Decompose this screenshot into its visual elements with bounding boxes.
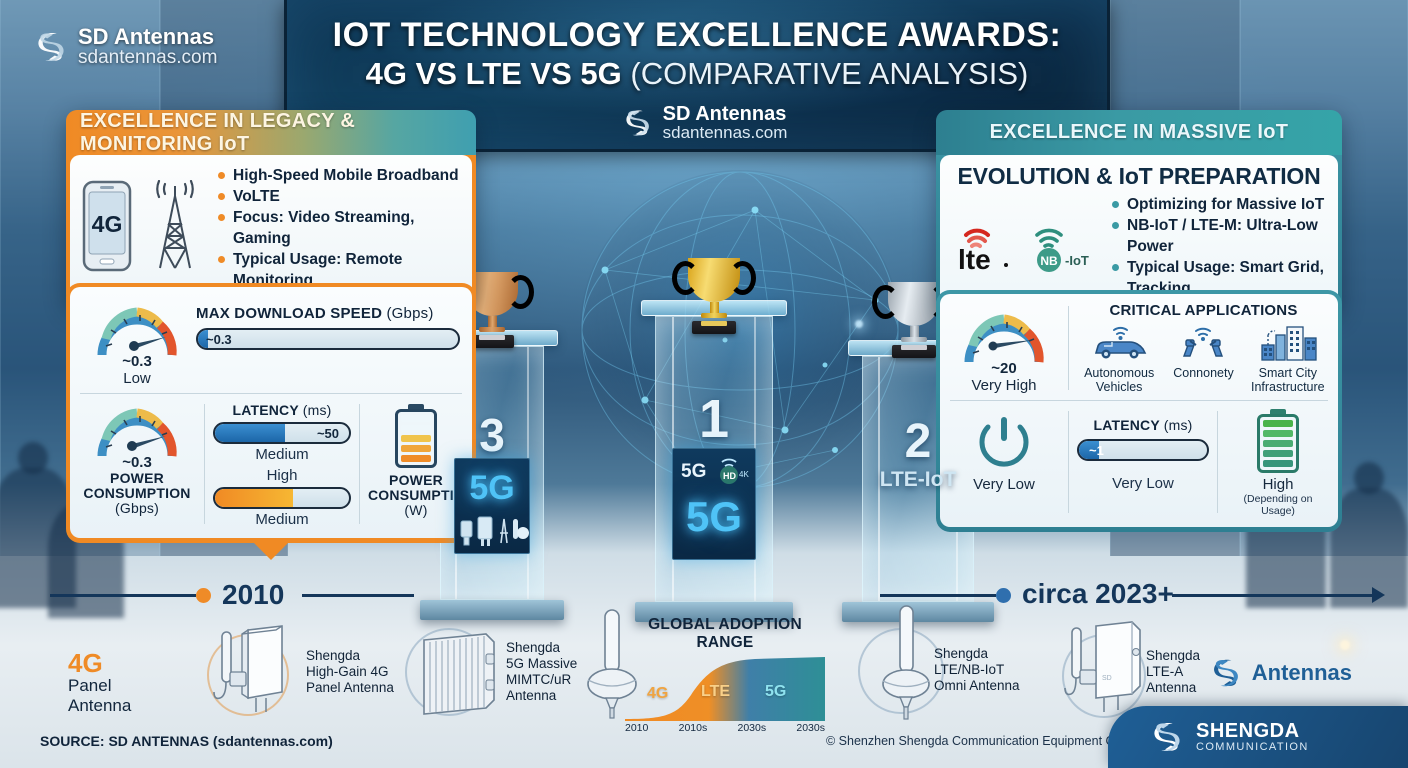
latency-caption: Very Low (1077, 475, 1209, 492)
podium-first-place: 1 5G HD 4K 5G (655, 300, 773, 622)
subtitle-bold: 4G VS LTE VS 5G (366, 56, 622, 91)
brand-name: Antennas (1252, 662, 1352, 684)
right-card-bullet-list: Optimizing for Massive IoT NB-IoT / LTE-… (1112, 194, 1328, 299)
app-caption: Connonety (1164, 366, 1242, 380)
gauge-dial (961, 306, 1047, 364)
timeline-line-right (880, 594, 996, 597)
svg-text:4K: 4K (739, 470, 749, 479)
right-card-massive-iot: EXCELLENCE IN MASSIVE IoT EVOLUTION & Io… (936, 110, 1342, 314)
timeline-line-left2 (302, 594, 414, 597)
latency-label: LATENCY (ms) (1077, 417, 1209, 433)
metric-label-unit: (Gbps) (386, 305, 433, 322)
podium-screen: 5G HD 4K 5G (672, 448, 756, 560)
timeline-arrow-icon (1372, 587, 1385, 603)
bar-value: ~0.3 (206, 332, 232, 347)
footer-brand-sub: COMMUNICATION (1196, 741, 1309, 753)
chart-label-4g: 4G (647, 685, 668, 703)
infographic-canvas: IOT TECHNOLOGY EXCELLENCE AWARDS: 4G VS … (0, 0, 1408, 768)
gauge-dial (94, 400, 180, 458)
right-latency: LATENCY (ms) ~1 Very Low (1077, 407, 1209, 492)
label-unit: (W) (368, 503, 464, 518)
list-item: NB-IoT / LTE-M: Ultra-Low Power (1112, 215, 1328, 257)
timeline-year-left: 2010 (222, 579, 284, 611)
app-caption: Smart City Infrastructure (1249, 366, 1327, 394)
latency-caption: Medium (213, 446, 351, 463)
autonomous-car-icon (1088, 323, 1150, 361)
timeline-year-right: circa 2023+ (1022, 578, 1174, 610)
app-autonomous-vehicles: Autonomous Vehicles (1080, 323, 1158, 394)
label-line2: CONSUMPTION (368, 488, 464, 503)
podium-rank: 3 (440, 408, 544, 462)
label-line1: POWER (78, 471, 196, 486)
lte-logo-icon: lte (950, 215, 1016, 278)
timeline-line-left (50, 594, 196, 597)
device-caption-2: Shengda5G MassiveMIMTC/uRAntenna (506, 640, 577, 704)
metric-label-unit: (ms) (303, 402, 332, 418)
brand-name: SD Antennas (78, 26, 217, 48)
trophy-silver (884, 282, 944, 358)
podium-rank: 2 (862, 414, 974, 469)
header-brand-logo: SD Antennas sdantennas.com (621, 104, 788, 142)
nb-iot-logo-icon: NB -IoT (1022, 215, 1106, 278)
left-card-legacy-iot: EXCELLENCE IN LEGACY & MONITORING IoT 4G (66, 110, 476, 308)
power-bar-caption-bottom: Medium (213, 511, 351, 528)
gauge-dial (94, 299, 180, 357)
5g-hd-badges-icon: 5G HD 4K (673, 453, 757, 487)
latency-label: LATENCY (ms) (213, 402, 351, 418)
podium-rank: 1 (655, 388, 773, 450)
page-subtitle: 4G VS LTE VS 5G (COMPARATIVE ANALYSIS) (287, 54, 1107, 91)
chart-plot-area: 4G LTE 5G (625, 655, 825, 721)
list-item: Optimizing for Massive IoT (1112, 194, 1328, 215)
battery-caption: High (1226, 476, 1330, 493)
chart-tick: 2030s (796, 722, 825, 734)
top-left-brand-logo: SD Antennas sdantennas.com (32, 26, 217, 68)
subtitle-light: (COMPARATIVE ANALYSIS) (630, 56, 1028, 91)
antenna-devices-icon (455, 511, 531, 549)
power-consumption-gauge: ~0.3 POWER CONSUMPTION (Gbps) (78, 400, 196, 516)
global-adoption-chart: GLOBAL ADOPTION RANGE 4G LTE 5G 2010 201 (625, 616, 825, 724)
shengda-logo-icon (1148, 718, 1186, 756)
speed-gauge-5g: ~20 Very High (948, 302, 1060, 394)
app-caption: Autonomous Vehicles (1080, 366, 1158, 394)
podium-screen-label: 5G (673, 493, 755, 541)
timeline-dot-left (196, 588, 211, 603)
chart-title: GLOBAL ADOPTION RANGE (625, 616, 825, 652)
metric-label-bold: LATENCY (232, 402, 298, 418)
svg-text:lte: lte (958, 244, 991, 273)
device-4g-panel-label: 4G Panel Antenna (68, 650, 131, 716)
sd-antennas-logo-icon (1208, 655, 1244, 691)
trophy-gold (684, 258, 744, 334)
sd-antennas-logo-icon (32, 28, 70, 66)
app-connectivity: Connonety (1164, 323, 1242, 394)
critical-applications: CRITICAL APPLICATIONS (1077, 302, 1330, 394)
chart-label-lte: LTE (701, 683, 730, 701)
brand-name: SD Antennas (663, 104, 788, 124)
latency-bar: ~1 (1077, 439, 1209, 461)
battery-label: POWER CONSUMPTION (W) (368, 473, 464, 518)
battery-note: (Depending on Usage) (1226, 493, 1330, 517)
left-card-bullet-list: High-Speed Mobile Broadband VoLTE Focus:… (212, 165, 462, 291)
label-line2: CONSUMPTION (78, 486, 196, 501)
svg-text:5G: 5G (681, 461, 706, 482)
app-smart-city: Smart City Infrastructure (1249, 323, 1327, 394)
page-title: IOT TECHNOLOGY EXCELLENCE AWARDS: (287, 0, 1107, 54)
bokeh-light (855, 320, 863, 328)
svg-text:SD: SD (1102, 675, 1112, 682)
brand-site: sdantennas.com (78, 48, 217, 68)
critical-applications-title: CRITICAL APPLICATIONS (1077, 302, 1330, 319)
device-title-4g: 4G (68, 650, 131, 676)
gauge-caption: Very High (948, 377, 1060, 394)
battery-icon (1257, 409, 1299, 473)
svg-text:-IoT: -IoT (1065, 253, 1089, 268)
list-item: Focus: Video Streaming, Gaming (218, 207, 462, 249)
battery-high: High (Depending on Usage) (1226, 407, 1330, 517)
panel-antenna-4g-icon (212, 620, 298, 718)
timeline-dot-right (996, 588, 1011, 603)
podium-screen: 5G (454, 458, 530, 554)
footer-brand-name: SHENGDA (1196, 721, 1309, 741)
battery-icon (395, 404, 437, 468)
robot-arm-icon (1174, 323, 1232, 361)
device-caption-1: ShengdaHigh-Gain 4GPanel Antenna (306, 648, 394, 696)
phone-4g-icon: 4G (80, 180, 140, 277)
right-card-metrics: ~20 Very High CRITICAL APPLICATIONS (936, 290, 1342, 532)
source-note: SOURCE: SD ANTENNAS (sdantennas.com) (40, 733, 333, 749)
cell-tower-icon (146, 180, 206, 277)
omni-antenna-lte-icon (872, 604, 942, 720)
latency-bar: ~50 (213, 422, 351, 444)
max-download-speed-label: MAX DOWNLOAD SPEED (Gbps) (196, 305, 460, 322)
brand-site: sdantennas.com (663, 124, 788, 142)
bokeh-light (1340, 640, 1350, 650)
bar-value: ~1 (1089, 443, 1104, 458)
right-card-heading: EVOLUTION & IoT PREPARATION (950, 163, 1328, 190)
list-item: VoLTE (218, 186, 462, 207)
max-download-speed-bar: ~0.3 (196, 328, 460, 350)
metric-label-bold: LATENCY (1093, 417, 1159, 433)
chart-tick: 2030s (738, 722, 767, 734)
podium-screen-label: 5G (455, 469, 529, 508)
footer-brand-band: SHENGDA COMMUNICATION (1108, 706, 1408, 768)
device-caption-4: ShengdaLTE-AAntenna (1146, 648, 1200, 696)
device-caption-3: ShengdaLTE/NB-IoTOmni Antenna (934, 646, 1020, 694)
massive-mimo-antenna-icon (412, 624, 510, 720)
bar-value: ~50 (317, 426, 339, 441)
device-title-line2: Panel (68, 676, 131, 696)
max-download-gauge: ~0.3 Low (78, 295, 196, 387)
chart-tick: 2010 (625, 722, 648, 734)
metric-label-bold: MAX DOWNLOAD SPEED (196, 305, 382, 322)
device-title-line3: Antenna (68, 696, 131, 716)
chart-x-ticks: 2010 2010s 2030s 2030s (625, 721, 825, 734)
chart-label-5g: 5G (765, 683, 786, 701)
power-consumption-label: POWER CONSUMPTION (Gbps) (78, 471, 196, 516)
right-card-band: EXCELLENCE IN MASSIVE IoT (936, 110, 1342, 155)
power-consumption-bar (213, 487, 351, 509)
left-card-metrics: ~0.3 Low MAX DOWNLOAD SPEED (Gbps) ~0.3 (66, 283, 476, 543)
power-bar-caption-top: High (213, 467, 351, 484)
chart-tick: 2010s (679, 722, 708, 734)
svg-text:4G: 4G (92, 211, 123, 237)
label-unit: (Gbps) (78, 501, 196, 516)
left-card-band: EXCELLENCE IN LEGACY & MONITORING IoT (66, 110, 476, 155)
list-item: High-Speed Mobile Broadband (218, 165, 462, 186)
gauge-caption: Low (78, 370, 196, 387)
podium-sublabel: LTE-IoT (862, 468, 974, 492)
bottom-right-brand-logo: Antennas (1208, 655, 1352, 691)
timeline-line-right2 (1172, 594, 1372, 597)
svg-text:HD: HD (723, 471, 736, 481)
power-button-icon (971, 409, 1037, 471)
smart-city-icon (1256, 323, 1320, 361)
metric-label-unit: (ms) (1164, 417, 1193, 433)
label-line1: POWER (368, 473, 464, 488)
sd-antennas-logo-icon (621, 106, 655, 140)
svg-text:NB: NB (1040, 254, 1058, 268)
